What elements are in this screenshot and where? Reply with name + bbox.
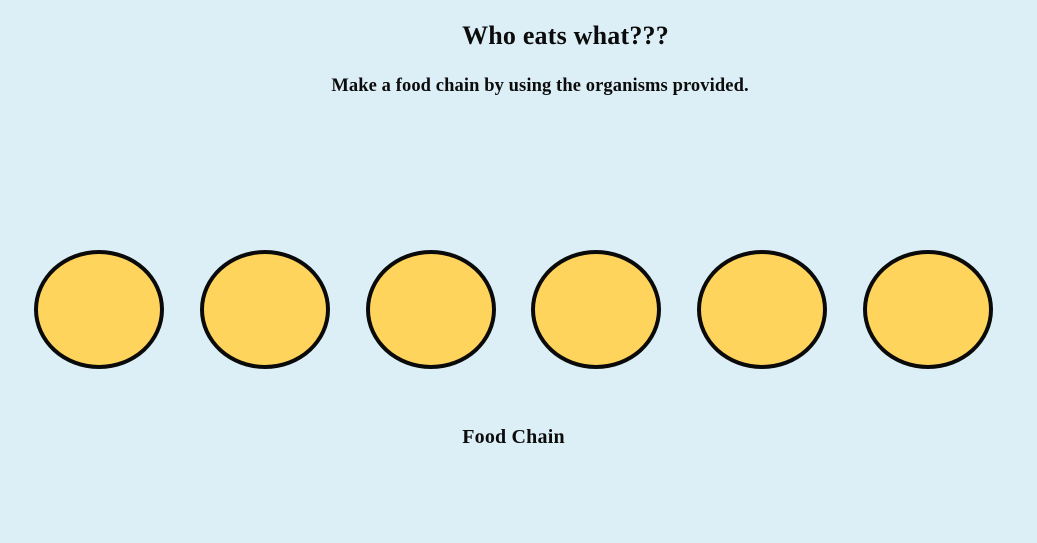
food-chain-slot-2[interactable]: [200, 250, 330, 369]
food-chain-slot-3[interactable]: [366, 250, 496, 369]
food-chain-slot-6[interactable]: [863, 250, 993, 369]
worksheet-canvas: Who eats what??? Make a food chain by us…: [0, 0, 1037, 543]
food-chain-slot-row: [34, 250, 993, 369]
instruction-text: Make a food chain by using the organisms…: [0, 74, 1037, 98]
food-chain-label: Food Chain: [0, 425, 1037, 449]
food-chain-slot-1[interactable]: [34, 250, 164, 369]
food-chain-slot-4[interactable]: [531, 250, 661, 369]
food-chain-slot-5[interactable]: [697, 250, 827, 369]
page-title: Who eats what???: [0, 21, 1037, 51]
